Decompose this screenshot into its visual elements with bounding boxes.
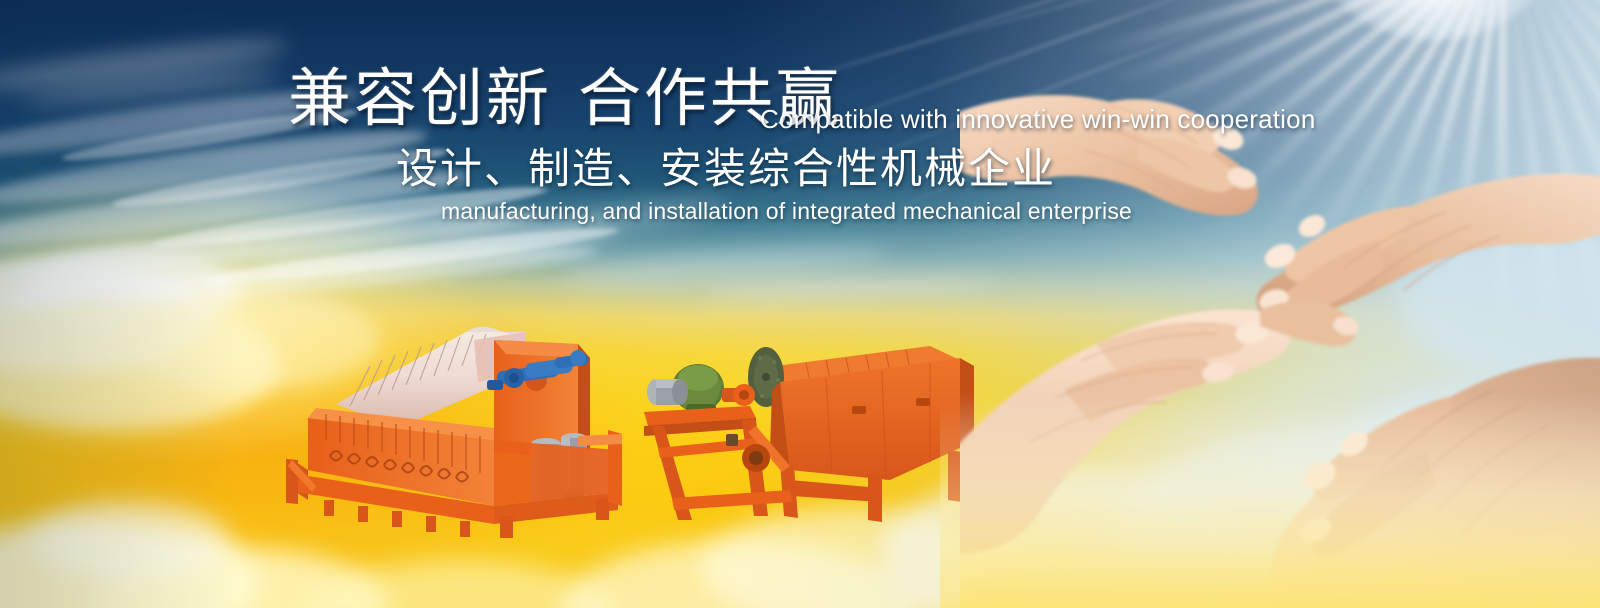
tagline-english: Compatible with innovative win-win coope… — [760, 104, 1315, 135]
subtagline-english: manufacturing, and installation of integ… — [441, 198, 1132, 225]
headline-part-1: 兼容创新 — [288, 64, 552, 134]
stacked-hands-teamwork-image — [960, 60, 1600, 608]
hand-upper-right — [1257, 174, 1600, 320]
headline-chinese: 兼容创新合作共赢 — [288, 68, 842, 131]
subheading-chinese: 设计、制造、安装综合性机械企业 — [396, 148, 1056, 190]
ceramic-disc-vacuum-filter-machine — [278, 310, 638, 545]
magnetic-separator-machine — [630, 330, 980, 525]
promotional-banner: 兼容创新合作共赢 Compatible with innovative win-… — [0, 0, 1600, 608]
